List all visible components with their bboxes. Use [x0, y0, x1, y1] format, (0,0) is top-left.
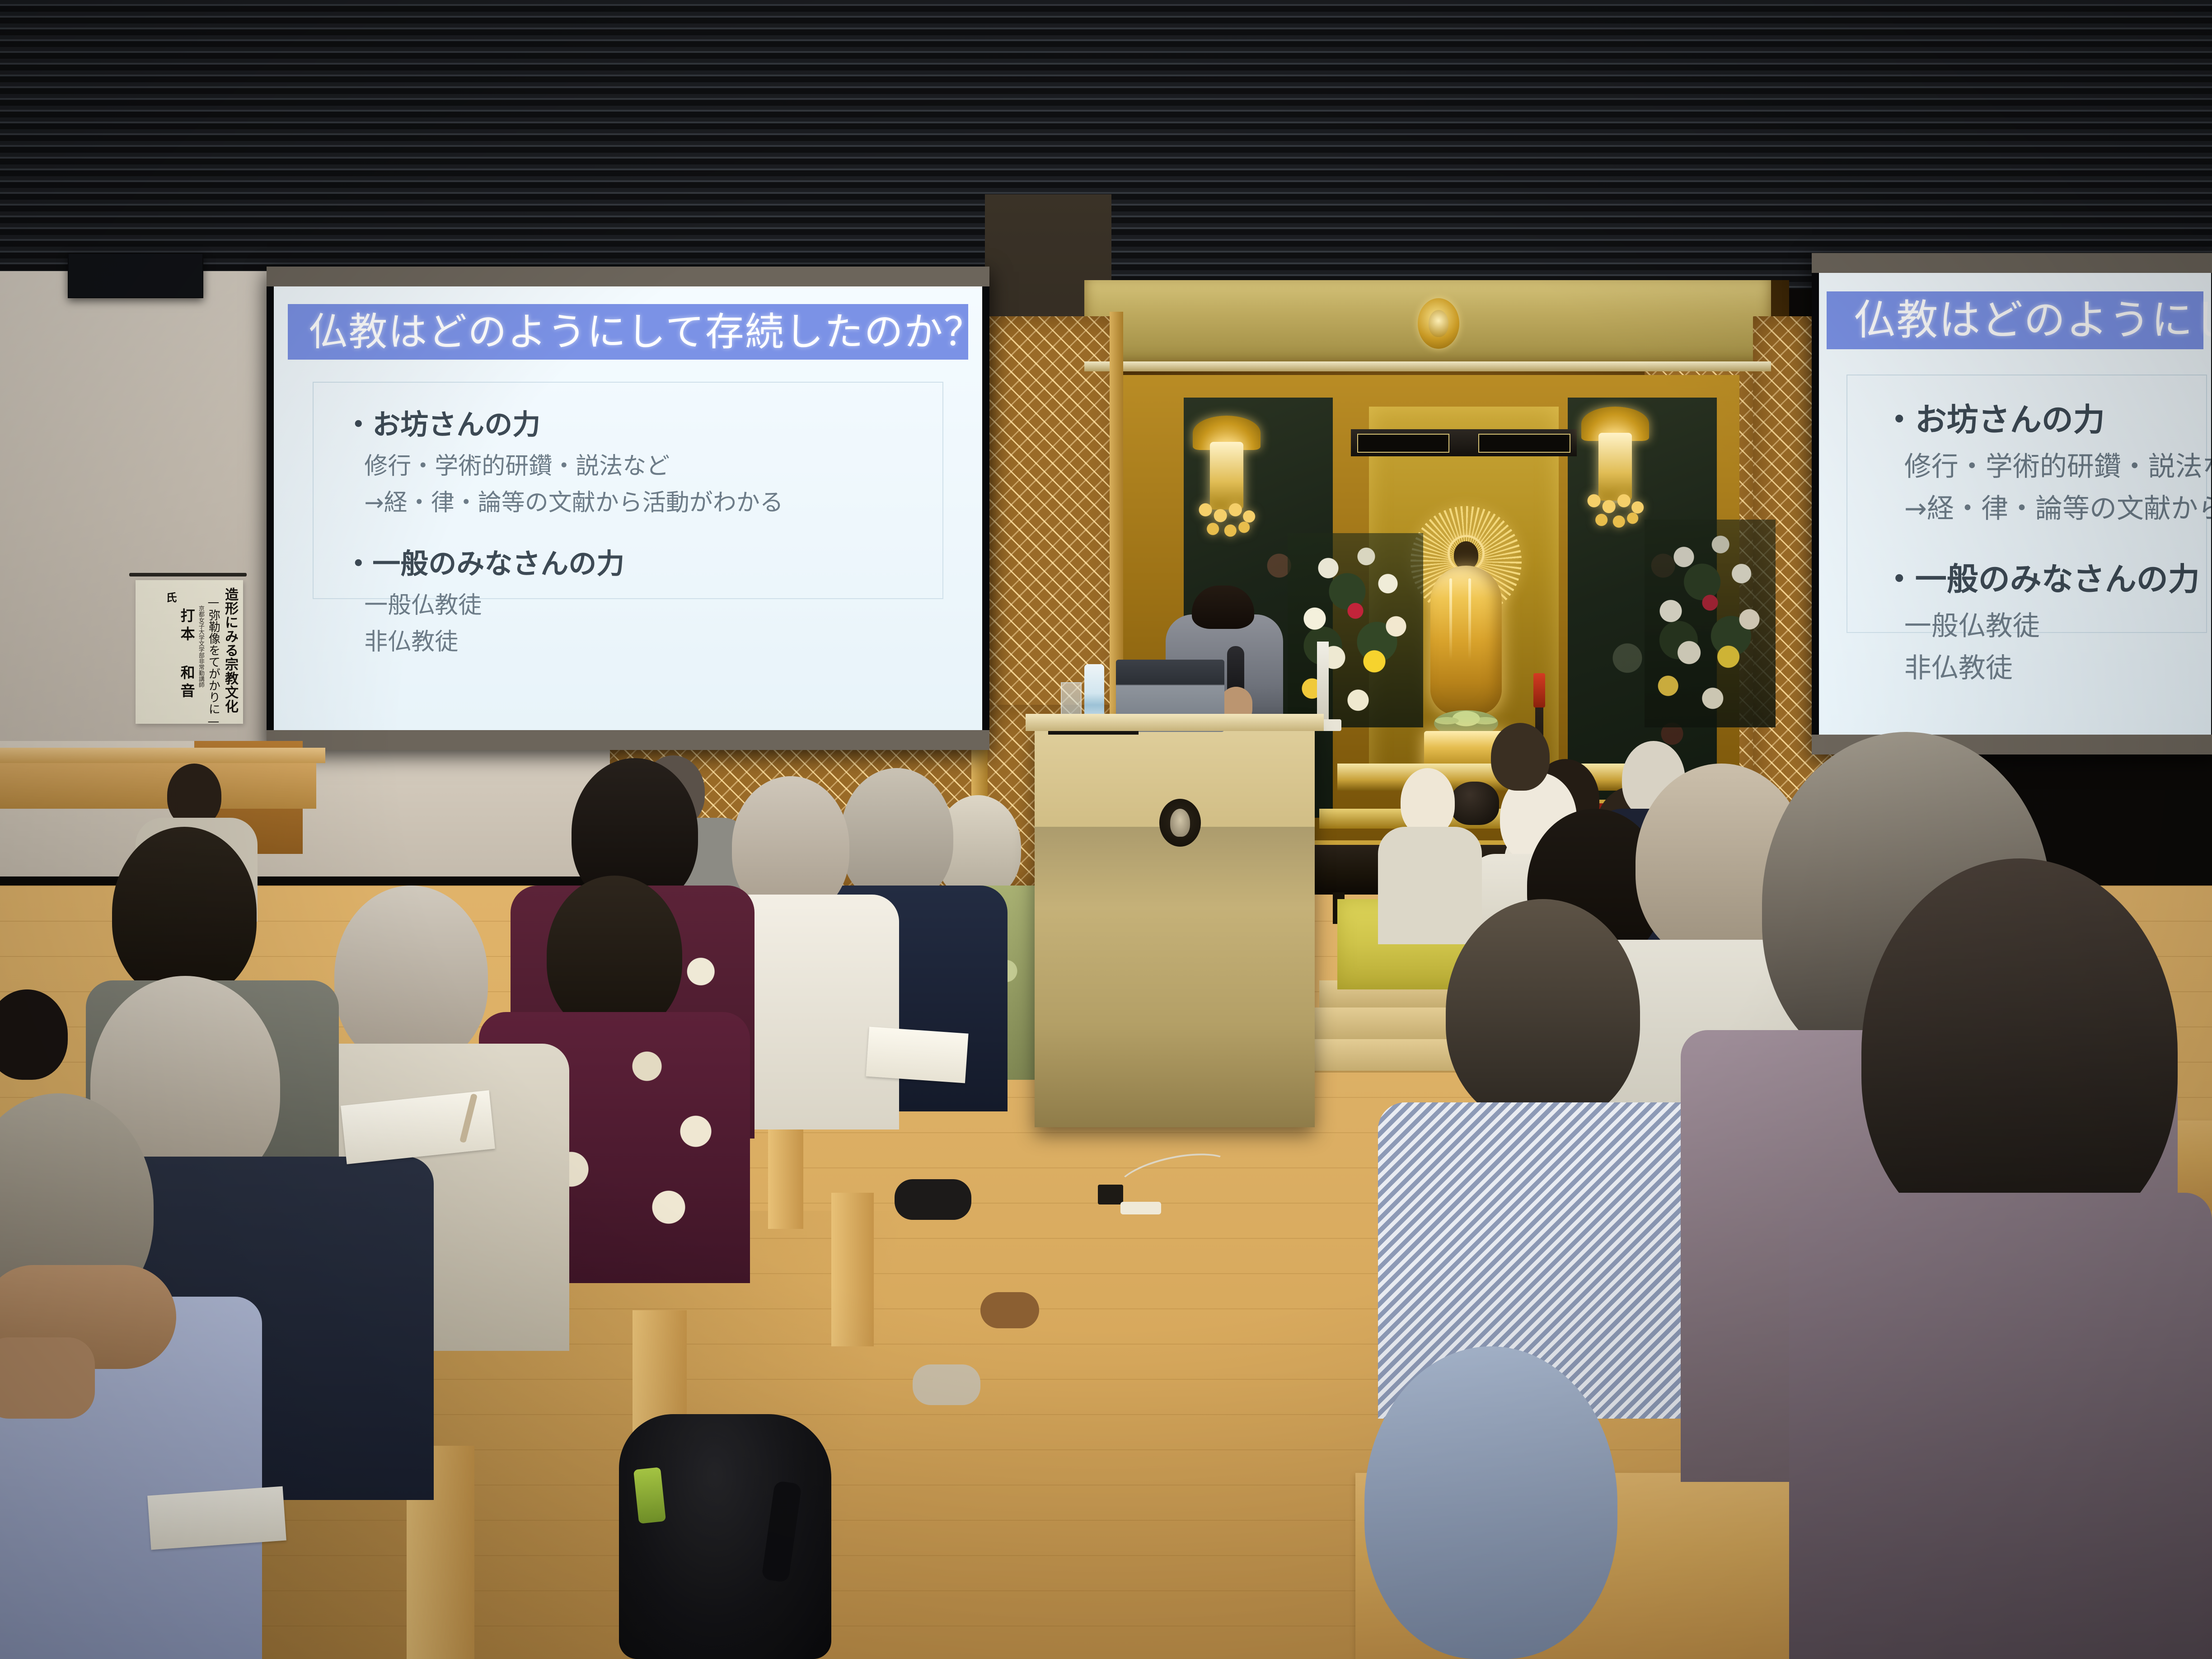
banner-title: 造形にみる宗教文化	[223, 587, 237, 719]
slide-title-bar: 仏教はどのようにして存続したのか？	[1827, 291, 2203, 349]
robe-fold	[1449, 578, 1452, 660]
person-torso	[1378, 827, 1482, 944]
backpack-icon	[619, 1414, 831, 1659]
slide-gap	[1884, 529, 2207, 554]
person-torso-blue	[1364, 1346, 1617, 1659]
lantern-body	[1598, 433, 1632, 501]
person-head-grey-hair	[334, 886, 488, 1066]
shrine-lintel	[1351, 429, 1577, 456]
person-head	[1446, 899, 1640, 1125]
slide-subline-2b: 非仏教徒	[1904, 646, 2207, 685]
slide-subline-1b: →経・律・論等の文献から活動がわかる	[364, 483, 942, 517]
slide-body: ・お坊さんの力 修行・学術的研鑽・説法など →経・律・論等の文献から活動がわかる…	[1846, 375, 2207, 633]
lantern-body	[1210, 442, 1243, 510]
altar-canopy-rail	[1084, 361, 1771, 371]
slide-subline-1a: 修行・学術的研鑽・説法など	[364, 447, 942, 481]
pew-end-post	[831, 1193, 874, 1346]
front-desk	[0, 759, 316, 809]
shoe	[895, 1179, 971, 1220]
slide-body: ・お坊さんの力 修行・学術的研鑽・説法など →経・律・論等の文献から活動がわかる…	[313, 382, 943, 599]
banner-affiliation: 京都女子大学文学部非常勤講師	[198, 605, 204, 719]
person-hand	[0, 1337, 95, 1419]
slide-title-bar: 仏教はどのようにして存続したのか？	[288, 304, 968, 360]
temple-crest-icon	[1418, 298, 1459, 349]
screen-top-band	[267, 267, 989, 286]
slide-subline-2a: 一般仏教徒	[1904, 604, 2207, 643]
hanging-lantern-icon	[1581, 407, 1649, 538]
slide-subline-2b: 非仏教徒	[364, 623, 942, 656]
front-desk-top	[0, 748, 325, 763]
left-projection-screen: 仏教はどのようにして存続したのか？ ・お坊さんの力 修行・学術的研鑽・説法など …	[267, 267, 989, 750]
banner-speaker-name: 打本 和音	[179, 608, 194, 719]
hanging-lantern-icon	[1193, 416, 1261, 547]
buddha-robe	[1430, 566, 1502, 715]
slide-subline-1a: 修行・学術的研鑽・説法など	[1904, 445, 2207, 484]
robe-fold	[1468, 578, 1471, 660]
banner-rod	[129, 573, 247, 576]
cable-plug	[1120, 1202, 1161, 1214]
slide-bullet-1: ・お坊さんの力	[1884, 394, 2207, 440]
banner-honorific: 氏	[165, 592, 176, 719]
person-head-white-hair	[1401, 768, 1455, 836]
slide-bullet-2: ・一般のみなさんの力	[1884, 554, 2207, 600]
flower-arrangement	[1288, 533, 1423, 727]
presenter-hair	[1192, 586, 1254, 629]
wall-speaker-box	[68, 253, 203, 298]
temple-crest-icon	[1159, 799, 1201, 847]
shoe	[913, 1364, 980, 1405]
person-head	[1491, 723, 1550, 791]
slide-bullet-2: ・一般のみなさんの力	[344, 541, 942, 581]
person-head	[112, 827, 257, 998]
slide-subline-1b: →経・律・論等の文献から活動がわかる	[1904, 487, 2207, 526]
lantern-ornaments	[1195, 501, 1258, 543]
backpack-accent	[633, 1467, 666, 1524]
slide-bullet-1: ・お坊さんの力	[344, 402, 942, 442]
event-banner: 造形にみる宗教文化 —弥勒像をてがかりに— 京都女子大学文学部非常勤講師 打本 …	[136, 580, 243, 724]
incense-burner-icon	[1450, 782, 1499, 825]
screen-top-band	[1812, 253, 2212, 273]
lectern	[1035, 721, 1315, 1127]
person-head-grey-hair	[840, 768, 953, 904]
shoe	[980, 1292, 1039, 1328]
slide-subline-2a: 一般仏教徒	[364, 586, 942, 620]
slide-gap	[344, 520, 942, 541]
person-torso	[1789, 1193, 2212, 1659]
slide-surface: 仏教はどのようにして存続したのか？ ・お坊さんの力 修行・学術的研鑽・説法など …	[1819, 273, 2211, 735]
slide-title: 仏教はどのようにして存続したのか？	[288, 313, 982, 351]
person-head	[547, 876, 682, 1034]
screen-bottom-band	[267, 730, 989, 750]
person-head	[1861, 858, 2178, 1247]
lecture-hall-photo: 仏教はどのようにして存続したのか？ ・お坊さんの力 修行・学術的研鑽・説法など …	[0, 0, 2212, 1659]
podium-top	[1026, 714, 1324, 731]
handout-paper	[147, 1486, 286, 1550]
buddha-head	[1454, 541, 1478, 569]
person-head	[167, 764, 221, 827]
banner-subtitle: —弥勒像をてがかりに—	[207, 595, 220, 719]
slide-surface: 仏教はどのようにして存続したのか？ ・お坊さんの力 修行・学術的研鑽・説法など …	[274, 286, 982, 730]
right-projection-screen: 仏教はどのようにして存続したのか？ ・お坊さんの力 修行・学術的研鑽・説法など …	[1812, 253, 2212, 755]
lantern-ornaments	[1584, 492, 1646, 534]
handout-paper	[866, 1026, 968, 1083]
flower-arrangement	[1645, 520, 1776, 727]
slide-title: 仏教はどのようにして存続したのか？	[1827, 300, 2211, 341]
power-strip	[1098, 1185, 1123, 1204]
